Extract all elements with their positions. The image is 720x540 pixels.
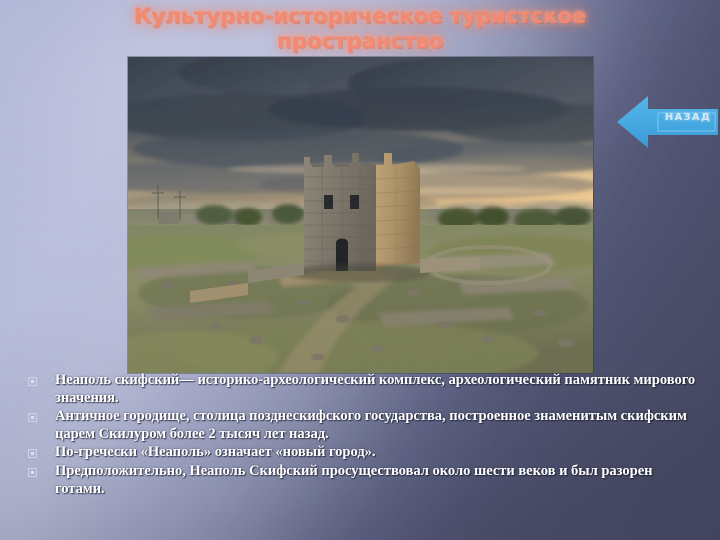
square-bullet-icon: [28, 377, 37, 386]
back-button[interactable]: НАЗАД: [617, 92, 718, 152]
square-bullet-icon: [28, 468, 37, 477]
back-arrow-icon[interactable]: [617, 92, 718, 152]
list-item-rest: Античное городище, столица позднескифско…: [55, 408, 687, 442]
square-bullet-icon: [28, 413, 37, 422]
list-item-rest: По-гречески «Неаполь» означает «новый го…: [55, 444, 376, 460]
list-item-text: Неаполь скифский— историко-археологическ…: [55, 372, 700, 407]
slide-title: Культурно-историческое туристское простр…: [80, 4, 640, 54]
list-item: По-гречески «Неаполь» означает «новый го…: [24, 444, 700, 462]
list-item: Античное городище, столица позднескифско…: [24, 408, 700, 443]
square-bullet-icon: [28, 449, 37, 458]
slide-canvas: Культурно-историческое туристское простр…: [0, 0, 720, 540]
list-item-text: По-гречески «Неаполь» означает «новый го…: [55, 444, 700, 462]
list-item-text: Античное городище, столица позднескифско…: [55, 408, 700, 443]
list-item-lead: Неаполь скифский: [55, 372, 179, 388]
list-item: Неаполь скифский— историко-археологическ…: [24, 372, 700, 407]
bullet-list: Неаполь скифский— историко-археологическ…: [24, 372, 700, 499]
list-item-text: Предположительно, Неаполь Скифский просу…: [55, 463, 700, 498]
list-item: Предположительно, Неаполь Скифский просу…: [24, 463, 700, 498]
list-item-rest: Предположительно, Неаполь Скифский просу…: [55, 463, 653, 497]
photo-illustration: [128, 57, 593, 373]
scythian-neapolis-photo: [128, 57, 593, 373]
